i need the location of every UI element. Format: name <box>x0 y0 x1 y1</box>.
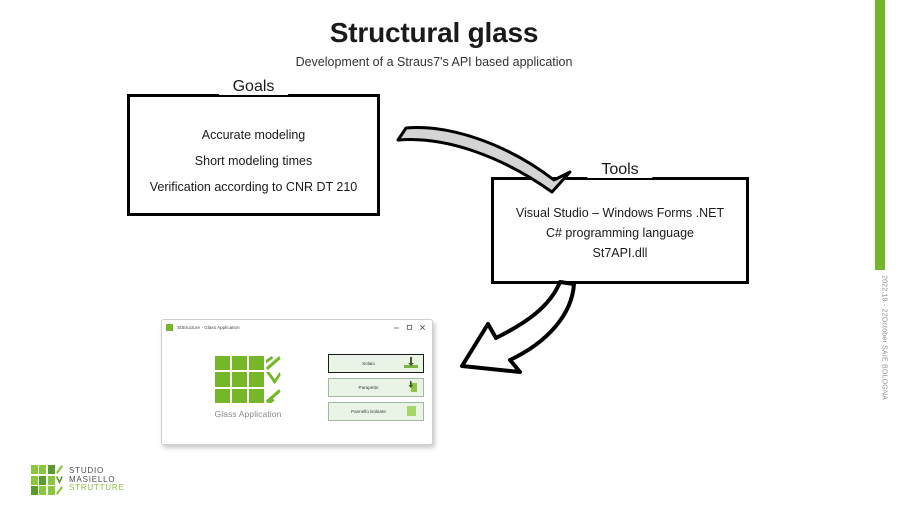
app-logo-icon <box>166 324 173 331</box>
app-branding: Glass Application <box>168 334 328 444</box>
goals-line: Accurate modeling <box>202 128 306 142</box>
app-titlebar: StStructure - Glass Application <box>162 320 432 334</box>
page-subtitle: Development of a Straus7's API based app… <box>0 56 868 70</box>
app-button-label: Parapetto <box>329 385 402 390</box>
panel-icon <box>402 404 420 418</box>
tools-to-app-arrow <box>452 280 584 376</box>
close-icon[interactable] <box>416 321 429 334</box>
event-label: 2022.19 - 22October SAIE BOLOGNA <box>881 275 888 400</box>
studio-logo: STUDIO MASIELLO STRUTTURE <box>31 465 125 495</box>
slide-canvas: Structural glass Development of a Straus… <box>0 0 900 505</box>
right-rail: 2022.19 - 22October SAIE BOLOGNA <box>868 0 900 505</box>
goals-line: Short modeling times <box>195 154 312 168</box>
app-body: Glass Application Solaio Parapetto Panne <box>162 334 432 444</box>
app-logo-caption: Glass Application <box>215 409 282 419</box>
page-title: Structural glass <box>0 18 868 49</box>
goals-box: Goals Accurate modeling Short modeling t… <box>127 94 380 216</box>
tools-box-title: Tools <box>587 162 652 178</box>
studio-logo-text: STUDIO MASIELLO STRUTTURE <box>69 467 125 493</box>
goals-box-content: Accurate modeling Short modeling times V… <box>127 122 380 200</box>
app-button-pannello-isolante[interactable]: Pannello isolante <box>328 402 424 421</box>
balustrade-icon <box>402 380 420 394</box>
tools-line: St7API.dll <box>593 246 648 260</box>
rail-green-bar <box>875 0 885 270</box>
glass-application-logo-icon <box>215 356 281 404</box>
studio-logo-icon <box>31 465 63 495</box>
app-window-title: StStructure - Glass Application <box>177 325 390 330</box>
app-window[interactable]: StStructure - Glass Application <box>161 319 433 445</box>
goals-box-title: Goals <box>219 79 289 95</box>
app-button-panel: Solaio Parapetto Pannello isolante <box>328 334 426 444</box>
studio-line-3: STRUTTURE <box>69 484 125 493</box>
tools-line: Visual Studio – Windows Forms .NET <box>516 206 724 220</box>
app-button-label: Solaio <box>329 361 402 366</box>
tools-line: C# programming language <box>546 226 694 240</box>
title-block: Structural glass Development of a Straus… <box>0 18 868 70</box>
app-button-parapetto[interactable]: Parapetto <box>328 378 424 397</box>
tools-box-content: Visual Studio – Windows Forms .NET C# pr… <box>491 203 749 263</box>
app-button-solaio[interactable]: Solaio <box>328 354 424 373</box>
goals-line: Verification according to CNR DT 210 <box>150 180 358 194</box>
maximize-icon[interactable] <box>403 321 416 334</box>
minimize-icon[interactable] <box>390 321 403 334</box>
goals-to-tools-arrow <box>392 122 577 194</box>
slab-icon <box>402 356 420 370</box>
rail-event-text: 2022.19 - 22October SAIE BOLOGNA <box>868 275 900 475</box>
app-button-label: Pannello isolante <box>329 409 402 414</box>
